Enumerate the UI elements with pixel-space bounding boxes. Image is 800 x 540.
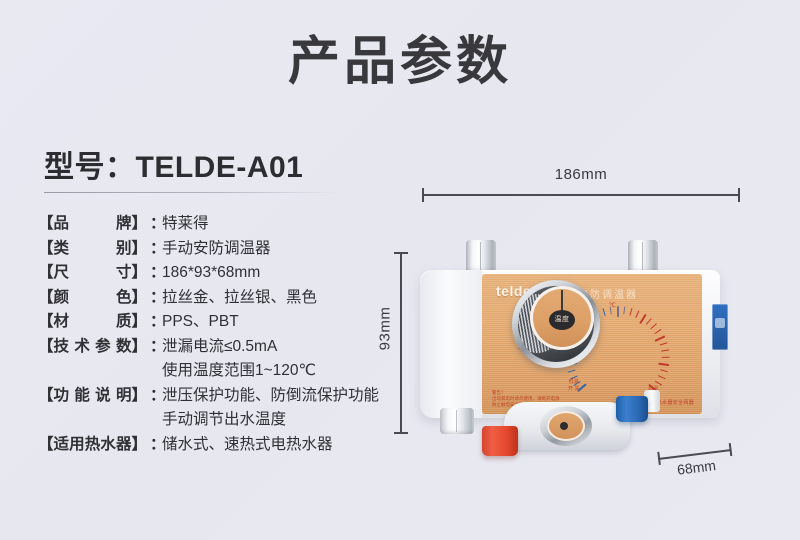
dial-tick (568, 369, 576, 372)
dial-tick (630, 308, 634, 316)
spec-label: 【颜色】 (38, 286, 150, 311)
dial-tick (655, 335, 666, 341)
knob-face: 温度 (530, 286, 594, 350)
spec-label-text: 适用热水器 (54, 433, 132, 458)
spec-label: 【品牌】 (38, 212, 150, 237)
spec-separator: ： (150, 384, 162, 409)
product-illustration: 186mm 93mm 68mm telde特莱得 安防调温器 漏电指示 ℃ 低温 (372, 168, 800, 508)
dial-tick (658, 375, 666, 379)
depth-dimension-label: 68mm (659, 455, 734, 480)
spec-label: 【适用热水器】 (38, 433, 150, 458)
dial-tick (603, 308, 607, 316)
depth-dimension-line: 68mm (658, 449, 731, 458)
temperature-knob[interactable]: 温度 (512, 280, 600, 368)
flow-knob[interactable] (540, 406, 592, 446)
spec-label-text: 尺寸 (54, 261, 132, 286)
side-sticker (712, 304, 728, 350)
dial-tick (662, 357, 670, 358)
spec-separator: ： (150, 433, 162, 458)
device-body: telde特莱得 安防调温器 漏电指示 ℃ 低温开 关 高温 警告！出现漏电时请… (420, 240, 732, 450)
model-block: 型号：TELDE-A01 (44, 142, 374, 193)
dial-tick (624, 306, 627, 314)
flow-knob-face (547, 411, 585, 441)
dial-tick (659, 363, 670, 366)
dial-tick (610, 306, 613, 314)
valve-assembly (504, 402, 630, 450)
spec-label: 【材质】 (38, 310, 150, 335)
spec-separator: ： (150, 212, 162, 237)
cold-water-cap (616, 396, 648, 422)
dial-tick (660, 369, 668, 372)
dial-tick (661, 349, 669, 352)
dial-tick (646, 318, 652, 325)
inlet-nut-right-icon (628, 240, 658, 274)
spec-separator: ： (150, 261, 162, 286)
spec-label-text: 材质 (54, 310, 132, 335)
spec-label: 【技术参数】 (38, 335, 150, 360)
spec-label-text: 类别 (54, 237, 132, 262)
spec-label-text: 技术参数 (54, 335, 132, 360)
knob-needle-icon (561, 290, 563, 312)
width-dimension-line (422, 194, 740, 196)
scale-low-label: 低温开 关 (568, 379, 579, 392)
spec-label: 【类别】 (38, 237, 150, 262)
page-title: 产品参数 (0, 34, 800, 91)
spec-label-text: 颜色 (54, 286, 132, 311)
product-spec-page: 产品参数 型号：TELDE-A01 【品牌】 ： 特莱得 【类别】 ： 手动安防… (0, 0, 800, 540)
spec-separator: ： (150, 335, 162, 360)
model-divider (44, 192, 338, 193)
outlet-nut-icon (440, 408, 474, 434)
device-side-face (420, 270, 482, 418)
height-dimension-line (400, 252, 402, 434)
spec-label-text: 品牌 (54, 212, 132, 237)
width-dimension-label: 186mm (422, 166, 740, 183)
spec-label-text: 功能说明 (54, 384, 132, 409)
model-number: 型号：TELDE-A01 (44, 142, 374, 186)
spec-label: 【尺寸】 (38, 261, 150, 286)
dial-tick (617, 306, 619, 317)
dial-tick (651, 323, 658, 329)
knob-label: 温度 (549, 310, 575, 330)
height-dimension-label: 93mm (377, 294, 394, 364)
inlet-nut-left-icon (466, 240, 496, 274)
dial-tick (636, 310, 641, 318)
dial-tick (660, 342, 668, 346)
spec-separator: ： (150, 237, 162, 262)
spec-separator: ： (150, 310, 162, 335)
hot-water-cap (482, 426, 518, 456)
spec-separator: ： (150, 286, 162, 311)
dial-tick (654, 329, 661, 335)
spec-label: 【功能说明】 (38, 384, 150, 409)
